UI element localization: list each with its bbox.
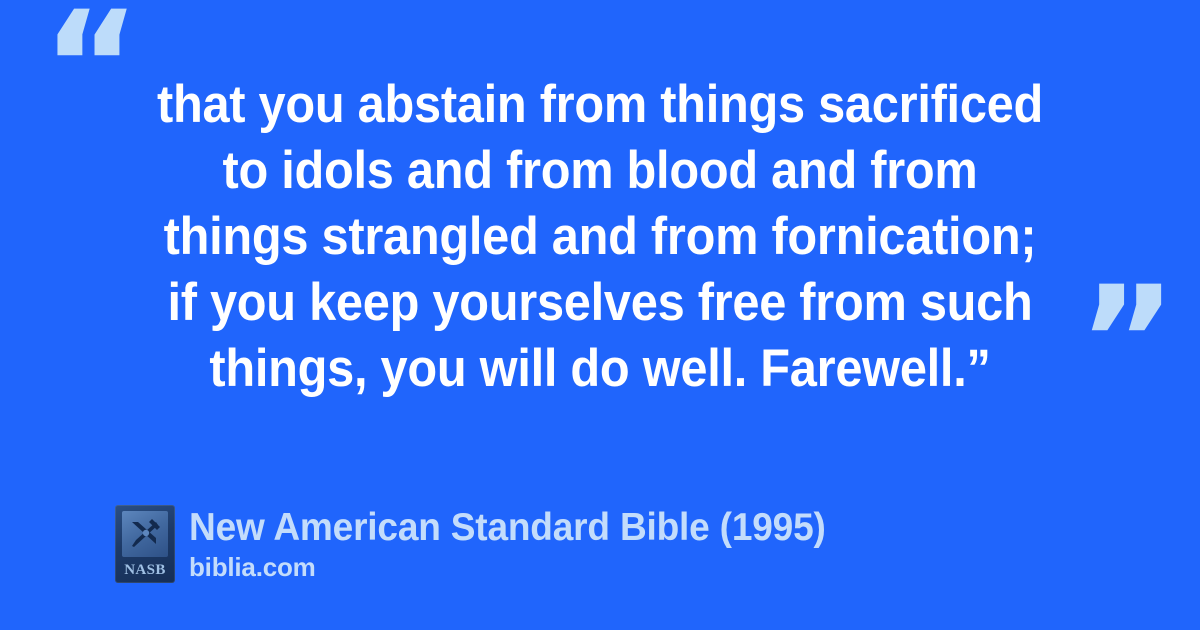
quote-line: things strangled and from fornication; [103, 204, 1097, 270]
nasb-logo-emblem [122, 511, 168, 557]
quote-line: things, you will do well. Farewell.” [103, 336, 1097, 402]
attribution-text: New American Standard Bible (1995) bibli… [189, 506, 859, 583]
attribution: NASB New American Standard Bible (1995) … [115, 505, 859, 583]
quote-line: that you abstain from things sacrificed [103, 72, 1097, 138]
quote-line: to idols and from blood and from [103, 138, 1097, 204]
close-quote-mark-icon: ” [1078, 267, 1171, 417]
verse-quote-card: “ that you abstain from things sacrifice… [0, 0, 1200, 630]
nasb-logo-icon: NASB [115, 505, 175, 583]
nasb-logo-wordmark: NASB [115, 563, 175, 578]
quote-block: “ that you abstain from things sacrifice… [0, 0, 1200, 430]
source-name: New American Standard Bible (1995) [189, 506, 826, 550]
source-url[interactable]: biblia.com [189, 551, 859, 583]
quote-text: that you abstain from things sacrificed … [103, 72, 1097, 402]
quote-line: if you keep yourselves free from such [103, 270, 1097, 336]
